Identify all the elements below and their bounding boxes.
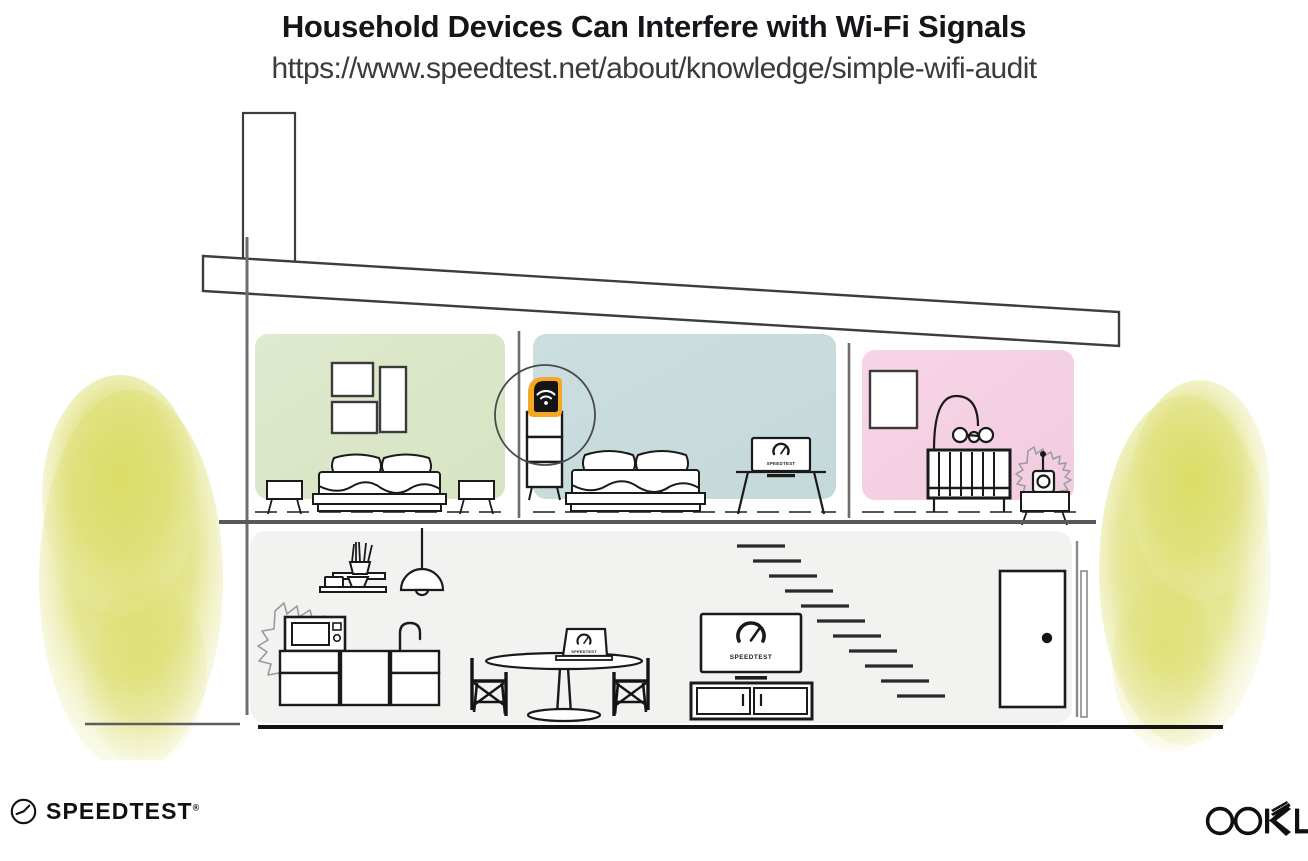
media-console bbox=[691, 683, 812, 719]
room-bedroom-blue: SPEEDTEST bbox=[533, 334, 836, 514]
desk-monitor[interactable]: SPEEDTEST bbox=[752, 438, 810, 477]
kitchen-counter bbox=[280, 651, 439, 705]
house-cutaway-illustration: SPEEDTEST bbox=[0, 100, 1308, 760]
shelf-unit bbox=[527, 412, 562, 500]
wifi-router[interactable] bbox=[528, 377, 562, 417]
front-door-rect[interactable] bbox=[1000, 571, 1065, 707]
living-room-tv[interactable]: SPEEDTEST bbox=[701, 614, 801, 680]
ookla-logo[interactable] bbox=[1203, 800, 1308, 840]
room-nursery-pink bbox=[862, 350, 1080, 525]
footer: SPEEDTEST® bbox=[0, 780, 1308, 861]
foliage-right bbox=[1099, 380, 1271, 752]
window-right bbox=[1077, 541, 1087, 717]
header: Household Devices Can Interfere with Wi-… bbox=[0, 0, 1308, 86]
room-bedroom-green bbox=[255, 334, 505, 514]
wall-art-pink-room bbox=[870, 371, 917, 428]
nightstand-right bbox=[459, 481, 494, 514]
bed-blue-room bbox=[566, 451, 705, 511]
crib bbox=[928, 450, 1010, 512]
roof bbox=[203, 256, 1119, 346]
ookla-k-glyph bbox=[1265, 801, 1308, 836]
speedtest-gauge-icon bbox=[10, 798, 37, 825]
bed-green-room bbox=[313, 455, 446, 512]
registered-trademark-icon: ® bbox=[193, 802, 200, 812]
speedtest-wordmark-text: SPEEDTEST bbox=[46, 798, 193, 824]
speedtest-wordmark: SPEEDTEST® bbox=[46, 798, 199, 825]
laptop-screen-label: SPEEDTEST bbox=[571, 649, 597, 654]
door-knob-icon[interactable] bbox=[1042, 633, 1052, 643]
speedtest-logo[interactable]: SPEEDTEST® bbox=[10, 798, 199, 825]
microwave bbox=[285, 617, 345, 651]
page-title: Household Devices Can Interfere with Wi-… bbox=[0, 0, 1308, 45]
nightstand-left bbox=[267, 481, 302, 514]
monitor-screen-label: SPEEDTEST bbox=[767, 461, 796, 466]
foliage-left bbox=[39, 375, 223, 760]
chimney bbox=[243, 113, 295, 271]
source-url: https://www.speedtest.net/about/knowledg… bbox=[0, 45, 1308, 86]
tv-screen-label: SPEEDTEST bbox=[730, 654, 773, 661]
